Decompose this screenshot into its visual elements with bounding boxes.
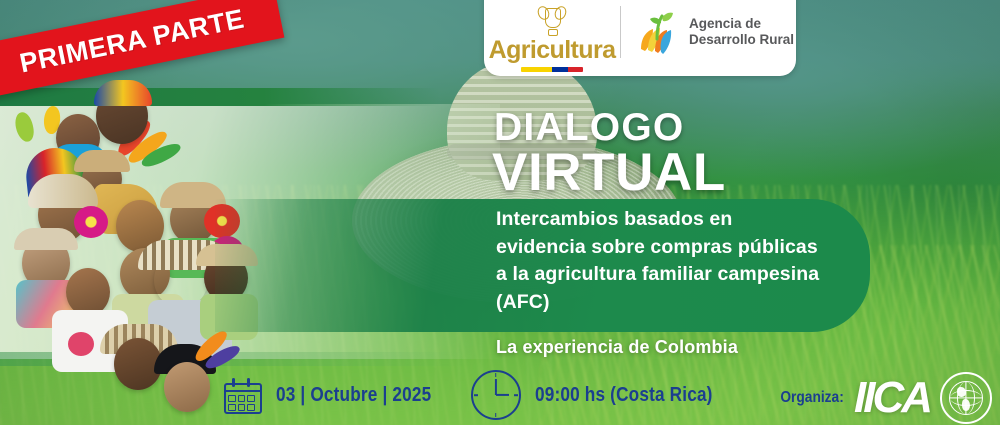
seal-globe (949, 381, 983, 415)
event-info-bar: 03 | Octubre | 2025 09:00 hs (Costa Rica… (224, 370, 741, 420)
event-date: 03 | Octubre | 2025 (276, 384, 431, 407)
title-line-1: DIALOGO (494, 108, 684, 147)
clock-tick (474, 394, 478, 396)
agency-logo: Agencia de Desarrollo Rural (621, 9, 796, 55)
clock-tick (495, 413, 497, 417)
header-logo-box: Agricultura Agenci (484, 0, 796, 76)
colombia-coat-of-arms-icon (539, 4, 565, 36)
organizer-label: Organiza: (781, 389, 844, 407)
subtitle-text: Intercambios basados en evidencia sobre … (496, 206, 826, 317)
fruit (68, 332, 94, 356)
calendar-grid (228, 395, 255, 411)
agency-line-1: Agencia de (689, 16, 794, 32)
flag-stripe-red (568, 67, 584, 72)
coat-base (548, 29, 558, 36)
clock-hand-minute (496, 394, 509, 396)
globe-landmass (962, 399, 970, 411)
iica-globe-seal-icon (940, 372, 992, 424)
event-time: 09:00 hs (Costa Rica) (535, 384, 713, 407)
ministry-wordmark: Agricultura (489, 38, 616, 63)
experience-text: La experiencia de Colombia (496, 337, 738, 358)
flag-stripe-blue (552, 67, 568, 72)
clock-tick (514, 394, 518, 396)
flag-stripe-yellow (521, 67, 552, 72)
iica-wordmark: IICA (854, 376, 930, 420)
field-hat (14, 228, 78, 250)
organizer-block: Organiza: IICA (770, 372, 992, 424)
clock-tick (495, 373, 497, 377)
flower (74, 206, 108, 238)
clock-hand-hour (495, 379, 497, 395)
globe-landmass (957, 387, 966, 397)
title-line-2: VIRTUAL (492, 146, 726, 199)
decorative-leaf (13, 111, 36, 144)
coat-shield (545, 8, 561, 28)
colombia-flag-icon (521, 67, 583, 72)
person-portrait (164, 362, 210, 412)
indigenous-headdress (94, 80, 152, 106)
agency-line-2: Desarrollo Rural (689, 32, 794, 48)
calendar-icon (224, 378, 262, 412)
ministry-logo: Agricultura (484, 0, 620, 72)
straw-hat-small (74, 150, 130, 172)
sprout-leaf-icon (635, 9, 681, 55)
calendar-header-line (224, 390, 262, 392)
agency-name: Agencia de Desarrollo Rural (689, 16, 794, 47)
event-banner: PRIMERA PARTE Agricultura (0, 0, 1000, 425)
clock-icon (471, 370, 521, 420)
person-portrait (66, 268, 110, 316)
